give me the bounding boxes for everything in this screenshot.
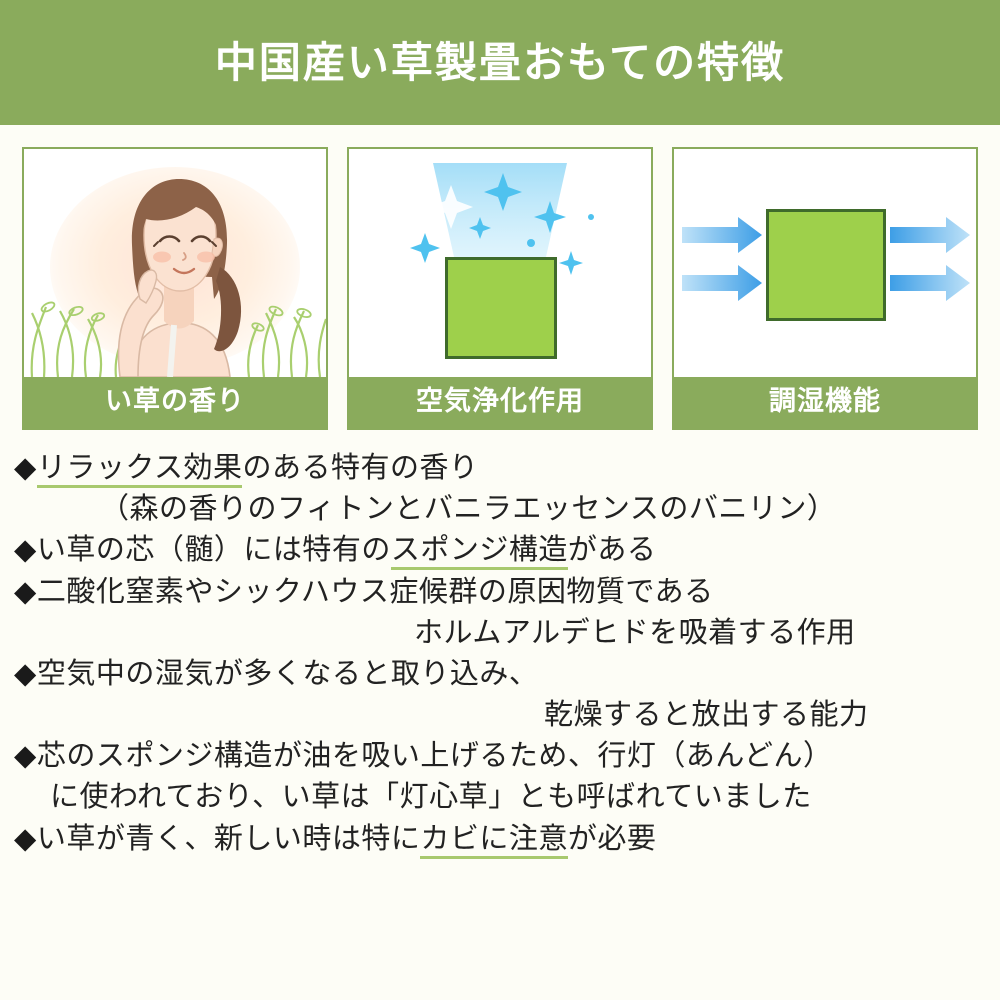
note-text: 芯のスポンジ構造が油を吸い上げるため、行灯（あんどん） — [37, 740, 833, 772]
note-item: に使われており、い草は「灯心草」とも呼ばれていました — [14, 777, 986, 818]
card-caption-humidity: 調湿機能 — [674, 377, 976, 428]
note-text: （森の香りのフィトンとバニラエッセンスのバニリン） — [100, 493, 836, 525]
note-item: 乾燥すると放出する能力 — [14, 695, 986, 736]
tatami-mat-shape — [445, 257, 557, 359]
bullet-diamond-icon: ◆ — [14, 658, 37, 690]
note-text: 空気中の湿気が多くなると取り込み、 — [37, 658, 539, 690]
airflow-arrows-icon — [674, 149, 976, 377]
feature-card-scent: い草の香り — [22, 147, 328, 430]
note-text: に使われており、い草は「灯心草」とも呼ばれていました — [50, 781, 812, 813]
air-purification-illustration — [349, 149, 651, 377]
note-text: 乾燥すると放出する能力 — [544, 699, 869, 731]
note-item: ◆芯のスポンジ構造が油を吸い上げるため、行灯（あんどん） — [14, 736, 986, 777]
woman-figure-icon — [24, 149, 326, 377]
note-item: ◆二酸化窒素やシックハウス症候群の原因物質である — [14, 572, 986, 613]
bullet-diamond-icon: ◆ — [14, 740, 37, 772]
note-text: が必要 — [568, 823, 657, 855]
card-caption-air-purification: 空気浄化作用 — [349, 377, 651, 428]
feature-card-air-purification: 空気浄化作用 — [347, 147, 653, 430]
note-highlight: リラックス効果 — [37, 452, 243, 488]
note-text: 二酸化窒素やシックハウス症候群の原因物質である — [37, 576, 714, 608]
page-root: 中国産い草製畳おもての特徴 — [0, 0, 1000, 1000]
bullet-diamond-icon: ◆ — [14, 576, 37, 608]
note-text: ホルムアルデヒドを吸着する作用 — [414, 617, 856, 649]
note-text: い草の芯（髄）には特有の — [37, 534, 391, 566]
page-header: 中国産い草製畳おもての特徴 — [0, 0, 1000, 125]
note-text: のある特有の香り — [242, 452, 478, 484]
bullet-diamond-icon: ◆ — [14, 452, 37, 484]
note-item: ◆空気中の湿気が多くなると取り込み、 — [14, 654, 986, 695]
note-highlight: カビに注意 — [420, 823, 568, 859]
note-text: がある — [568, 534, 657, 566]
note-item: ◆い草の芯（髄）には特有のスポンジ構造がある — [14, 530, 986, 571]
feature-card-row: い草の香り — [0, 125, 1000, 430]
bullet-diamond-icon: ◆ — [14, 534, 37, 566]
note-item: ◆リラックス効果のある特有の香り — [14, 448, 986, 489]
note-item: ◆い草が青く、新しい時は特にカビに注意が必要 — [14, 819, 986, 860]
note-item: ホルムアルデヒドを吸着する作用 — [14, 613, 986, 654]
card-caption-scent: い草の香り — [24, 377, 326, 428]
note-highlight: スポンジ構造 — [391, 534, 568, 570]
humidity-illustration — [674, 149, 976, 377]
note-text: い草が青く、新しい時は特に — [37, 823, 421, 855]
feature-notes-list: ◆リラックス効果のある特有の香り （森の香りのフィトンとバニラエッセンスのバニリ… — [0, 430, 1000, 860]
note-item: （森の香りのフィトンとバニラエッセンスのバニリン） — [14, 489, 986, 530]
page-title: 中国産い草製畳おもての特徴 — [215, 42, 785, 84]
feature-card-humidity: 調湿機能 — [672, 147, 978, 430]
bullet-diamond-icon: ◆ — [14, 823, 37, 855]
scent-illustration — [24, 149, 326, 377]
